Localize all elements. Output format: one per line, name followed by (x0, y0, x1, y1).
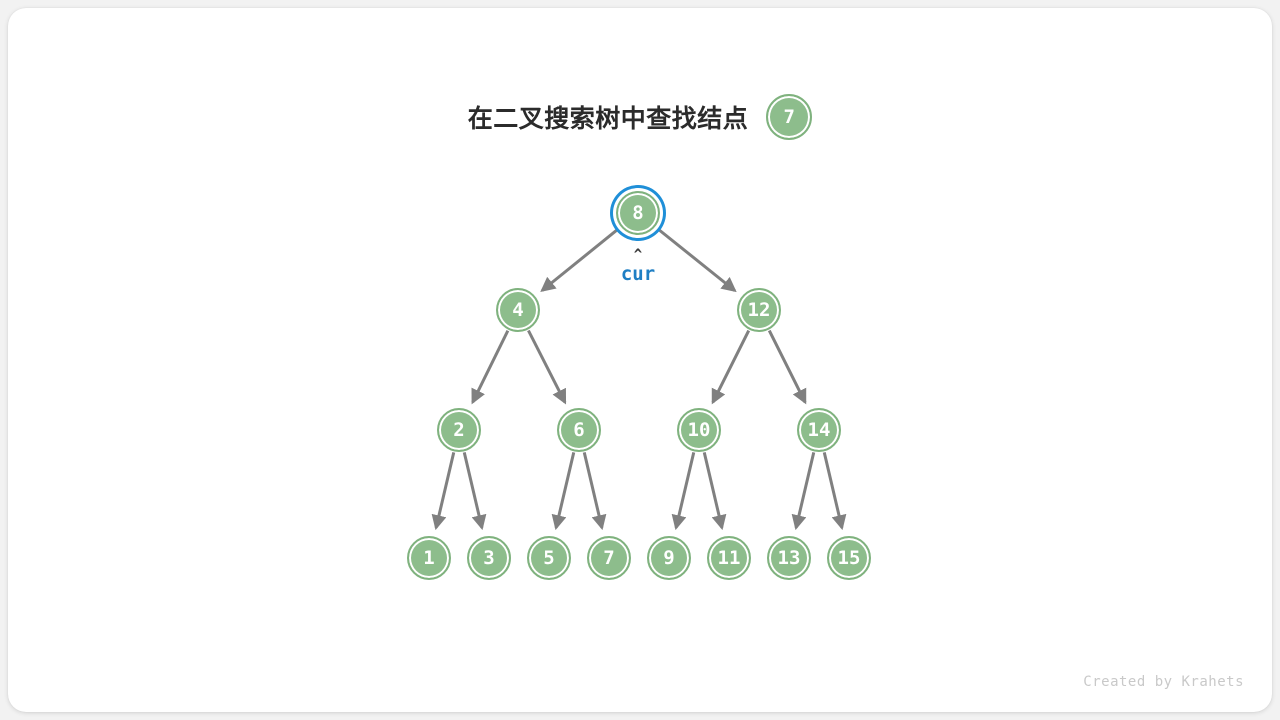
tree-edge-10-to-11 (704, 452, 722, 527)
pointer-caret-icon: ^ (621, 249, 655, 261)
tree-node-8: 8 (616, 191, 660, 235)
tree-edge-4-to-6 (528, 331, 565, 403)
tree-node-1: 1 (407, 536, 451, 580)
tree-node-14: 14 (797, 408, 841, 452)
tree-edge-6-to-5 (556, 452, 574, 527)
tree-node-15: 15 (827, 536, 871, 580)
page-title: 在二叉搜索树中查找结点 (468, 99, 749, 135)
tree-node-7: 7 (587, 536, 631, 580)
tree-edge-6-to-7 (584, 452, 602, 527)
tree-node-4: 4 (496, 288, 540, 332)
tree-node-13: 13 (767, 536, 811, 580)
tree-edge-2-to-1 (436, 452, 454, 527)
page-background: 在二叉搜索树中查找结点 7 841226101413579111315 ^cur… (0, 0, 1280, 720)
tree-node-5: 5 (527, 536, 571, 580)
tree-edge-4-to-2 (473, 331, 508, 403)
tree-node-10: 10 (677, 408, 721, 452)
cur-pointer: ^cur (621, 249, 655, 285)
tree-edge-14-to-15 (824, 452, 842, 527)
tree-node-3: 3 (467, 536, 511, 580)
footer-credit: Created by Krahets (1083, 674, 1244, 690)
diagram-card: 在二叉搜索树中查找结点 7 841226101413579111315 ^cur… (8, 8, 1272, 712)
tree-node-11: 11 (707, 536, 751, 580)
tree-edge-10-to-9 (676, 452, 694, 527)
title-target-node: 7 (766, 94, 812, 140)
pointer-label: cur (621, 263, 655, 285)
tree-node-12: 12 (737, 288, 781, 332)
tree-node-6: 6 (557, 408, 601, 452)
tree-edge-12-to-14 (769, 331, 805, 403)
tree-node-9: 9 (647, 536, 691, 580)
tree-edge-14-to-13 (796, 452, 814, 527)
tree-edge-8-to-4 (542, 227, 620, 290)
tree-node-2: 2 (437, 408, 481, 452)
tree-edge-2-to-3 (464, 452, 482, 527)
title-row: 在二叉搜索树中查找结点 7 (8, 94, 1272, 140)
tree-edge-12-to-10 (713, 331, 749, 403)
tree-edge-8-to-12 (656, 227, 735, 290)
